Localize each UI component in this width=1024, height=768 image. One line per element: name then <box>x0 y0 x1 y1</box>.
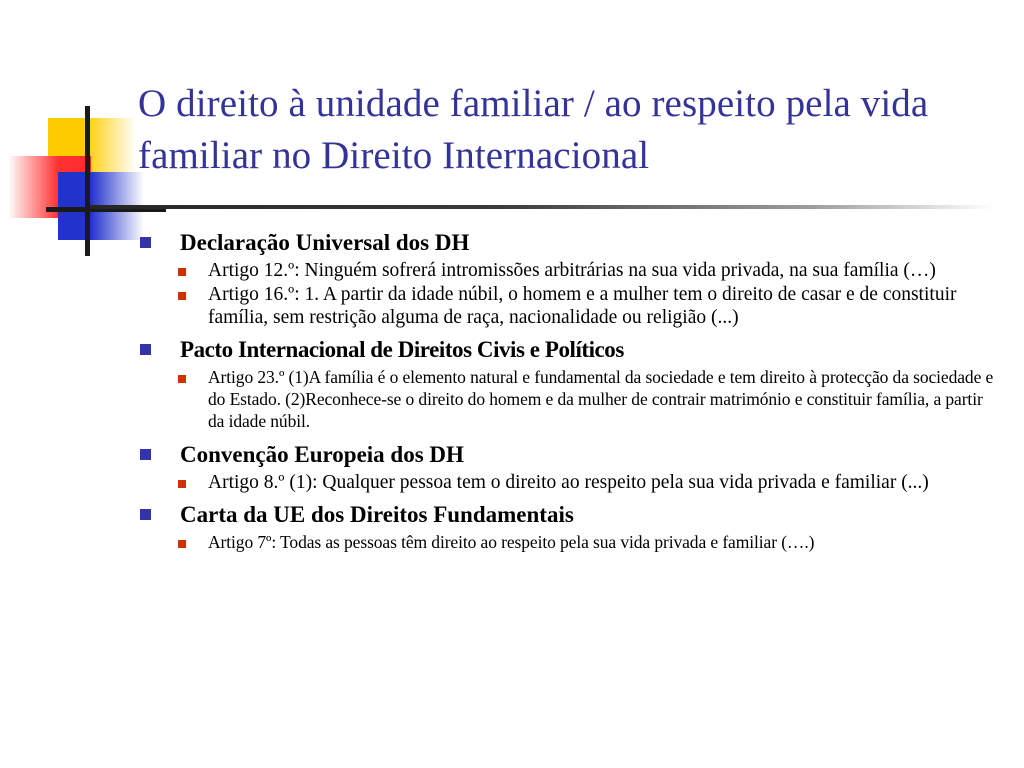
bullet-level1-label: Declaração Universal dos DH <box>180 228 469 258</box>
page-title: O direito à unidade familiar / ao respei… <box>138 78 988 182</box>
title-divider-rule <box>90 205 995 209</box>
list-item: Pacto Internacional de Direitos Civis e … <box>140 335 1010 365</box>
list-item: Artigo 16.º: 1. A partir da idade núbil,… <box>140 283 1010 329</box>
bullet-list: Declaração Universal dos DH Artigo 12.º:… <box>140 228 1010 554</box>
square-bullet-icon <box>178 268 186 276</box>
slide-canvas: O direito à unidade familiar / ao respei… <box>0 0 1024 768</box>
square-bullet-icon <box>178 375 186 383</box>
square-bullet-icon <box>178 480 186 488</box>
square-bullet-icon <box>178 540 186 548</box>
list-item: Convenção Europeia dos DH <box>140 440 1010 470</box>
bullet-level1-label: Pacto Internacional de Direitos Civis e … <box>180 335 624 365</box>
list-item: Artigo 23.º (1)A família é o elemento na… <box>140 366 1010 432</box>
bullet-level2-label: Artigo 12.º: Ninguém sofrerá intromissõe… <box>208 259 936 282</box>
spacer <box>140 433 1010 440</box>
list-item: Artigo 12.º: Ninguém sofrerá intromissõe… <box>140 259 1010 282</box>
square-bullet-icon <box>140 449 151 460</box>
bullet-level2-label: Artigo 23.º (1)A família é o elemento na… <box>208 366 998 432</box>
bullet-level2-label: Artigo 8.º (1): Qualquer pessoa tem o di… <box>208 471 929 494</box>
square-bullet-icon <box>140 509 151 520</box>
red-square-icon <box>8 156 91 218</box>
bullet-level2-label: Artigo 7º: Todas as pessoas têm direito … <box>208 531 814 553</box>
bullet-level2-label: Artigo 16.º: 1. A partir da idade núbil,… <box>208 283 998 329</box>
square-bullet-icon <box>140 237 151 248</box>
square-bullet-icon <box>178 292 186 300</box>
bullet-level1-label: Convenção Europeia dos DH <box>180 440 464 470</box>
list-item: Artigo 8.º (1): Qualquer pessoa tem o di… <box>140 471 1010 494</box>
list-item: Declaração Universal dos DH <box>140 228 1010 258</box>
square-bullet-icon <box>140 344 151 355</box>
list-item: Artigo 7º: Todas as pessoas têm direito … <box>140 531 1010 553</box>
yellow-square-icon <box>48 118 136 196</box>
cross-vertical-line-icon <box>85 106 90 256</box>
bullet-level1-label: Carta da UE dos Direitos Fundamentais <box>180 500 574 530</box>
title-container: O direito à unidade familiar / ao respei… <box>138 78 988 182</box>
list-item: Carta da UE dos Direitos Fundamentais <box>140 500 1010 530</box>
